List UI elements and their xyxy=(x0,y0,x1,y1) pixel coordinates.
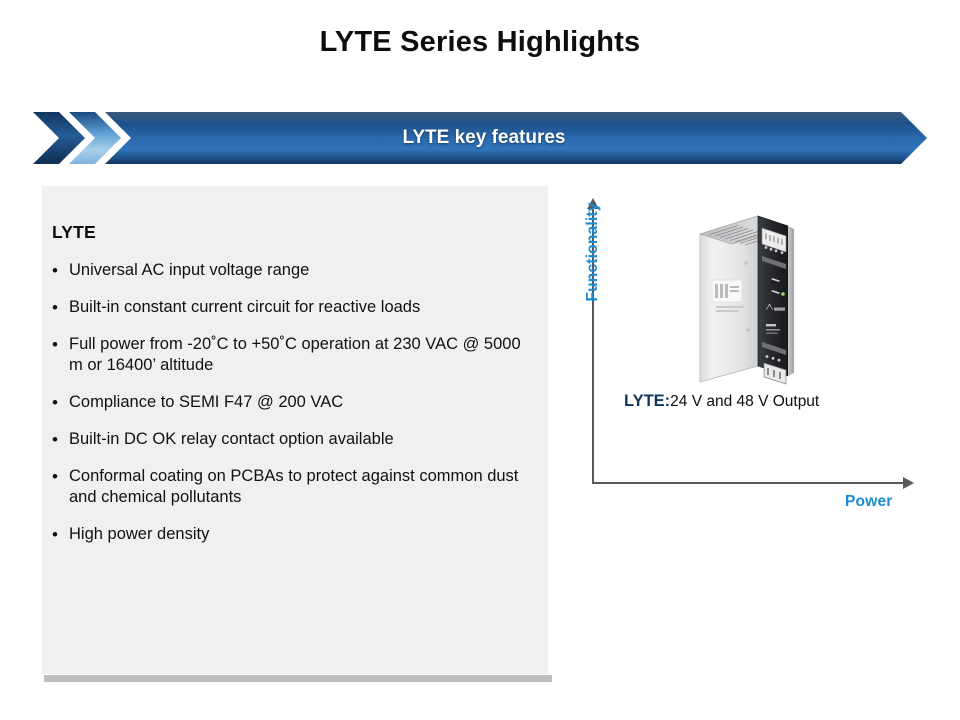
list-item: • Compliance to SEMI F47 @ 200 VAC xyxy=(52,392,542,414)
product-mount-dot xyxy=(744,261,748,265)
list-item-label: Built-in DC OK relay contact option avai… xyxy=(69,429,531,451)
product-caption: LYTE:24 V and 48 V Output xyxy=(624,392,819,411)
list-item: • Built-in constant current circuit for … xyxy=(52,297,542,319)
list-item: • Universal AC input voltage range xyxy=(52,260,542,282)
features-panel-shadow xyxy=(44,675,552,682)
y-axis-label: Functionality xyxy=(584,182,602,322)
list-item-label: Conformal coating on PCBAs to protect ag… xyxy=(69,466,531,510)
list-item-label: Full power from -20˚C to +50˚C operation… xyxy=(69,334,531,378)
list-item-label: Universal AC input voltage range xyxy=(69,260,531,282)
page-title: LYTE Series Highlights xyxy=(0,26,960,59)
x-axis-arrow-icon xyxy=(903,477,914,489)
list-item-label: Compliance to SEMI F47 @ 200 VAC xyxy=(69,392,531,414)
list-item: • Conformal coating on PCBAs to protect … xyxy=(52,466,542,510)
features-content: LYTE • Universal AC input voltage range … xyxy=(52,222,542,561)
list-item-label: High power density xyxy=(69,524,531,546)
list-item: • High power density xyxy=(52,524,542,546)
x-axis-line xyxy=(592,482,905,484)
bullet-icon: • xyxy=(52,524,69,546)
product-right-edge xyxy=(788,226,794,376)
bullet-icon: • xyxy=(52,297,69,319)
bullet-icon: • xyxy=(52,429,69,451)
bullet-icon: • xyxy=(52,392,69,414)
product-image xyxy=(686,206,816,396)
list-item: • Full power from -20˚C to +50˚C operati… xyxy=(52,334,542,378)
x-axis-label: Power xyxy=(845,493,893,511)
bullet-icon: • xyxy=(52,334,69,356)
din-rail-power-supply-icon xyxy=(686,206,816,396)
section-banner: LYTE key features xyxy=(33,112,927,164)
banner-label: LYTE key features xyxy=(33,112,927,164)
list-item: • Built-in DC OK relay contact option av… xyxy=(52,429,542,451)
bullet-icon: • xyxy=(52,260,69,282)
product-caption-series: LYTE: xyxy=(624,392,670,410)
product-mount-dot xyxy=(746,328,750,332)
features-heading: LYTE xyxy=(52,222,542,243)
bullet-icon: • xyxy=(52,466,69,488)
product-caption-description: 24 V and 48 V Output xyxy=(670,393,819,410)
list-item-label: Built-in constant current circuit for re… xyxy=(69,297,531,319)
product-side-label xyxy=(712,280,744,312)
